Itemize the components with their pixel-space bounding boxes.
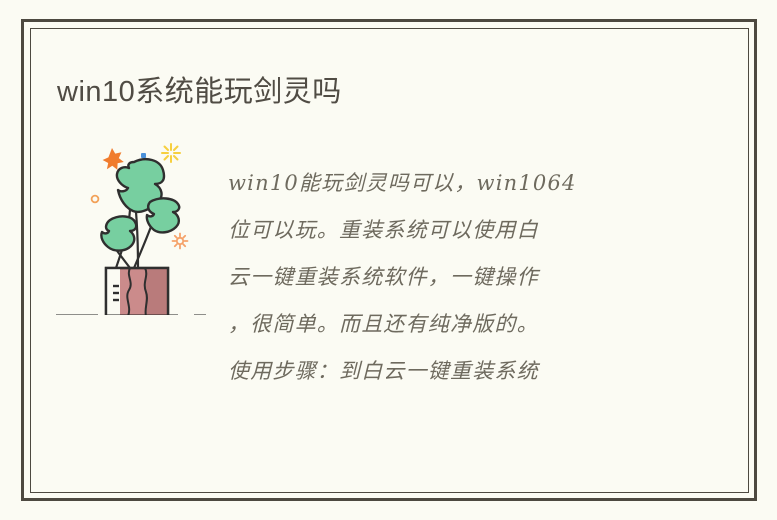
sparkle-burst-yellow-icon [162, 144, 180, 162]
sparkle-star-orange-icon [103, 148, 124, 170]
body-line: 使用步骤：到白云一键重装系统 [228, 348, 658, 395]
page-root: win10系统能玩剑灵吗 [0, 0, 777, 520]
sparkle-flower-orange-icon [173, 234, 188, 249]
body-line: ，很简单。而且还有纯净版的。 [228, 301, 658, 348]
potted-plant-illustration [50, 140, 230, 315]
body-line: 云一键重装系统软件，一键操作 [228, 254, 658, 301]
article-body: win10能玩剑灵吗可以，win1064 位可以玩。重装系统可以使用白 云一键重… [228, 160, 658, 395]
page-title: win10系统能玩剑灵吗 [57, 72, 342, 112]
plant-leaf-left [101, 216, 136, 250]
plant-pot [106, 268, 168, 315]
sparkle-dot-blue-icon [141, 153, 146, 158]
sparkle-circle-orange-icon [92, 196, 99, 203]
article-content: win10能玩剑灵吗可以，win1064 位可以玩。重装系统可以使用白 云一键重… [50, 140, 730, 410]
body-line: win10能玩剑灵吗可以，win1064 [228, 160, 658, 207]
body-line: 位可以玩。重装系统可以使用白 [228, 207, 658, 254]
plant-leaf-right [147, 198, 179, 232]
